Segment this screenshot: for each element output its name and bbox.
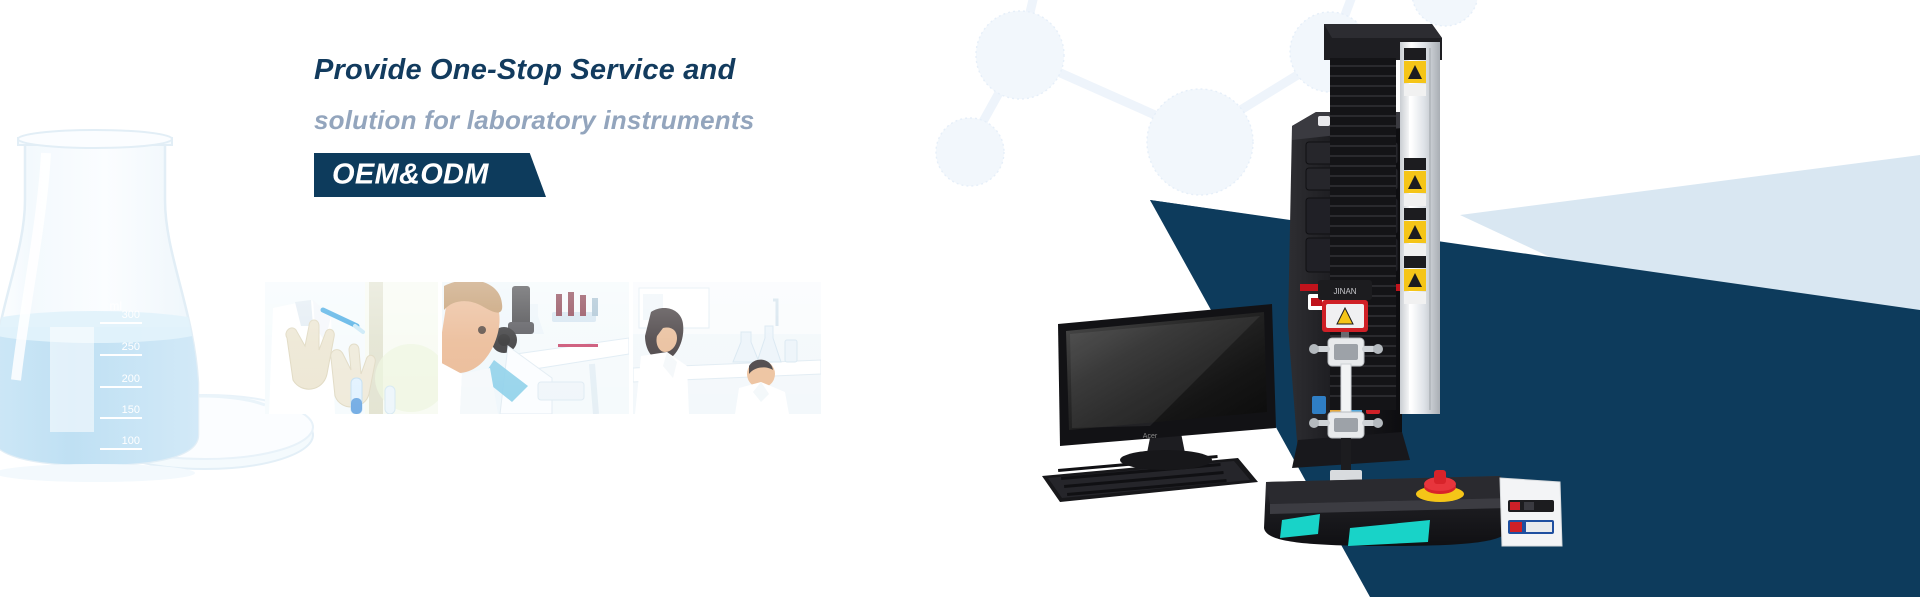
tag-label: OEM&ODM: [332, 159, 489, 192]
svg-text:150: 150: [122, 404, 140, 416]
oem-odm-tag: OEM&ODM: [314, 153, 546, 197]
laboratory-photo-strip: [265, 282, 821, 414]
headline-line-2: solution for laboratory instruments: [314, 107, 934, 133]
svg-text:ml: ml: [109, 299, 122, 313]
control-panel: [1500, 478, 1562, 546]
svg-text:200: 200: [122, 373, 140, 385]
svg-text:Acer: Acer: [1143, 433, 1158, 440]
headline-line-1: Provide One-Stop Service and: [314, 56, 934, 85]
svg-text:300: 300: [122, 309, 140, 321]
photo-lab-bench: [633, 282, 821, 414]
headline-block: Provide One-Stop Service and solution fo…: [314, 56, 934, 197]
svg-text:250: 250: [122, 341, 140, 353]
warning-labels: [1404, 48, 1426, 304]
hero-banner: 300 250 200 150 100 ml Provide One-Sto: [0, 0, 1920, 597]
svg-text:100: 100: [122, 435, 140, 447]
equipment-illustration: Acer: [1030, 8, 1590, 548]
photo-microscope: [442, 282, 629, 414]
erlenmeyer-flask: 300 250 200 150 100 ml: [0, 130, 213, 477]
svg-text:JINAN: JINAN: [1333, 287, 1356, 296]
photo-pipetting: [265, 282, 438, 414]
machine-base: [1264, 470, 1562, 546]
